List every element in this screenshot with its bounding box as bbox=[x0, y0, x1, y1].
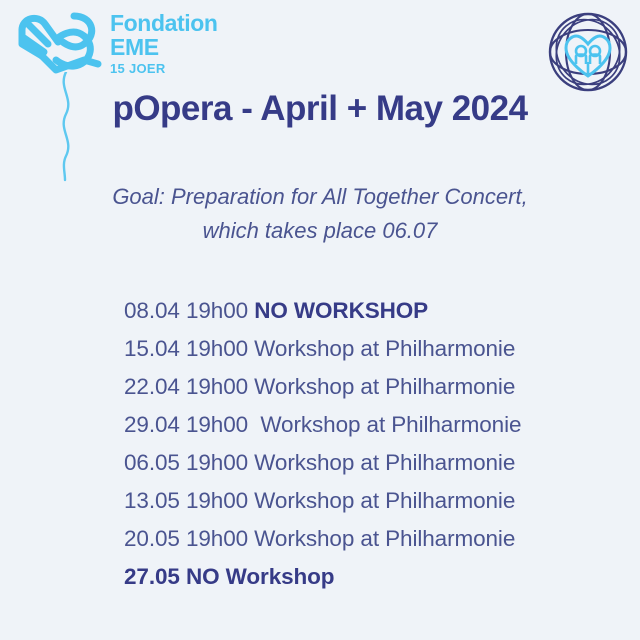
schedule-row-text: 29.04 19h00 Workshop at Philharmonie bbox=[124, 412, 521, 437]
schedule-row-text: 13.05 19h00 Workshop at Philharmonie bbox=[124, 488, 515, 513]
schedule-row: 20.05 19h00 Workshop at Philharmonie bbox=[124, 520, 594, 558]
schedule-row-text: 15.04 19h00 Workshop at Philharmonie bbox=[124, 336, 515, 361]
schedule-row: 15.04 19h00 Workshop at Philharmonie bbox=[124, 330, 594, 368]
schedule-row-text: 20.05 19h00 Workshop at Philharmonie bbox=[124, 526, 515, 551]
brand-anniversary-label: 15 JOER bbox=[110, 62, 240, 75]
poster-canvas: Fondation EME 15 JOER pOpera - April + M… bbox=[0, 0, 640, 640]
schedule-list: 08.04 19h00 NO WORKSHOP15.04 19h00 Works… bbox=[124, 292, 594, 596]
goal-subtitle: Goal: Preparation for All Together Conce… bbox=[0, 180, 640, 248]
schedule-row: 27.05 NO Workshop bbox=[124, 558, 594, 596]
goal-subtitle-line-2: which takes place 06.07 bbox=[58, 214, 582, 248]
schedule-row-text: 22.04 19h00 Workshop at Philharmonie bbox=[124, 374, 515, 399]
heart-balloon-logo-icon bbox=[12, 8, 108, 78]
goal-subtitle-line-1: Goal: Preparation for All Together Conce… bbox=[58, 180, 582, 214]
brand-line-2: EME bbox=[110, 36, 240, 59]
schedule-row: 22.04 19h00 Workshop at Philharmonie bbox=[124, 368, 594, 406]
schedule-row: 06.05 19h00 Workshop at Philharmonie bbox=[124, 444, 594, 482]
schedule-row-emphasis: NO WORKSHOP bbox=[254, 298, 428, 323]
schedule-row-text: 06.05 19h00 Workshop at Philharmonie bbox=[124, 450, 515, 475]
page-title: pOpera - April + May 2024 bbox=[0, 88, 640, 129]
schedule-row-text: 27.05 NO Workshop bbox=[124, 564, 334, 589]
schedule-row: 08.04 19h00 NO WORKSHOP bbox=[124, 292, 594, 330]
brand-wordmark: Fondation EME 15 JOER bbox=[110, 12, 240, 75]
circular-heart-family-emblem-icon bbox=[544, 8, 632, 96]
schedule-row-text: 08.04 19h00 bbox=[124, 298, 254, 323]
schedule-row: 13.05 19h00 Workshop at Philharmonie bbox=[124, 482, 594, 520]
brand-line-1: Fondation bbox=[110, 12, 240, 35]
schedule-row: 29.04 19h00 Workshop at Philharmonie bbox=[124, 406, 594, 444]
